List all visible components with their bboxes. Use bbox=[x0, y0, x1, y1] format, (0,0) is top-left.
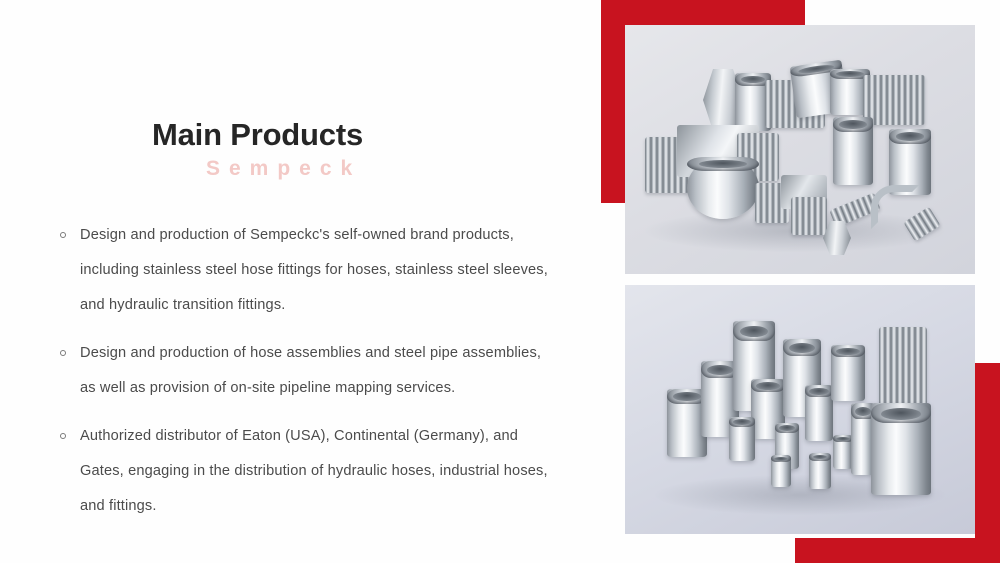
circle-bullet-icon bbox=[60, 433, 66, 439]
red-accent-bar-bottom bbox=[795, 538, 1000, 563]
red-accent-bar-left bbox=[601, 0, 627, 203]
right-media-pane bbox=[580, 0, 1000, 563]
red-accent-bar-right bbox=[975, 363, 1000, 563]
sleeve-9 bbox=[805, 385, 833, 441]
slide-root: Main Products Sempeck Design and product… bbox=[0, 0, 1000, 563]
sleeve-12 bbox=[833, 435, 853, 469]
circle-bullet-icon bbox=[60, 350, 66, 356]
list-item-text: Design and production of hose assemblies… bbox=[80, 345, 541, 396]
circle-bullet-icon bbox=[60, 232, 66, 238]
page-title: Main Products bbox=[152, 119, 572, 150]
elbow-thread-2 bbox=[791, 197, 827, 235]
sleeve-10 bbox=[809, 453, 831, 489]
stainless-steel-sleeves-photo bbox=[625, 285, 975, 534]
list-item: Design and production of hose assemblies… bbox=[58, 336, 558, 406]
hydraulic-fittings-photo bbox=[625, 25, 975, 274]
tee-fitting-port bbox=[687, 157, 759, 219]
brand-subtitle: Sempeck bbox=[206, 158, 572, 179]
sleeve-large bbox=[871, 403, 931, 495]
left-content-pane: Main Products Sempeck Design and product… bbox=[0, 0, 600, 563]
red-accent-bar-top bbox=[601, 0, 805, 25]
list-item: Authorized distributor of Eaton (USA), C… bbox=[58, 419, 558, 524]
ferrule-cup-1 bbox=[833, 117, 873, 185]
sleeve-ferrule-ribbed bbox=[879, 327, 927, 409]
list-item-text: Authorized distributor of Eaton (USA), C… bbox=[80, 428, 548, 514]
sleeve-11 bbox=[831, 345, 865, 401]
list-item: Design and production of Sempeckc's self… bbox=[58, 218, 558, 323]
title-block: Main Products Sempeck bbox=[152, 119, 572, 179]
list-item-text: Design and production of Sempeckc's self… bbox=[80, 227, 548, 313]
sleeve-8 bbox=[771, 455, 791, 487]
sleeve-5 bbox=[729, 417, 755, 461]
bullet-list: Design and production of Sempeckc's self… bbox=[58, 218, 558, 524]
